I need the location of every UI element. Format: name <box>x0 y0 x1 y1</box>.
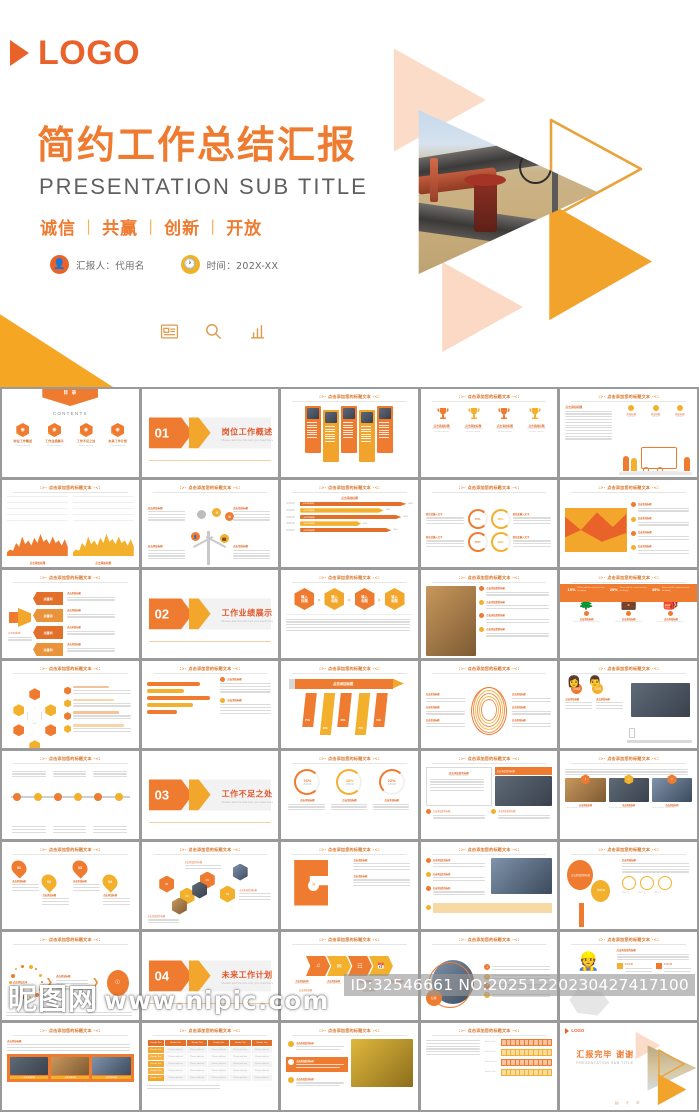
person-icon: 👤 <box>50 255 69 274</box>
thumb-body: 76%添加标题48%添加标题22%添加标题点击添加标题点击添加标题点击添加标题 <box>281 765 418 839</box>
thumb-body: ♫✉☷📅点击添加标题Please add content点击添加标题Please… <box>281 946 418 1020</box>
thumb-title: :>- 点击添加您的标题文本 -<: <box>421 842 558 856</box>
contents-word: CONTENTS <box>2 411 139 416</box>
thumb-title: :>- 点击添加您的标题文本 -<: <box>281 1023 418 1037</box>
thumb-chevronSteps[interactable]: :>- 点击添加您的标题文本 -<:♫✉☷📅点击添加标题Please add c… <box>281 932 418 1020</box>
thumb-drops4[interactable]: :>- 点击添加您的标题文本 -<:01点击添加标题02点击添加标题03点击添加… <box>2 842 139 930</box>
thumb-donuts4[interactable]: :>- 点击添加您的标题文本 -<:请在此输入文字75%90%请在此输入文字请在… <box>421 480 558 568</box>
thumb-photos3[interactable]: :>- 点击添加您的标题文本 -<:1点击添加标题Please add your… <box>560 751 697 839</box>
thumb-title: :>- 点击添加您的标题文本 -<: <box>421 932 558 946</box>
thumb-table[interactable]: :>- 点击添加您的标题文本 -<:Header TextHeader Text… <box>142 1023 279 1111</box>
contents-item-icon: ◉ <box>16 423 29 437</box>
thumb-title: :>- 点击添加您的标题文本 -<: <box>421 751 558 765</box>
thumb-title: :>- 点击添加您的标题文本 -<: <box>560 480 697 494</box>
slogan-separator: | <box>148 217 154 235</box>
thumb-body: 点击添加标题75%60%85%70%54% <box>281 675 418 749</box>
slide-thumbnail-grid: 目 录CONTENTS◉岗位工作概述Please add text◉工作业绩展示… <box>0 387 699 1024</box>
thumb-funnel[interactable]: :>- 点击添加您的标题文本 -<:关键词点击添加标题关键词点击添加标题关键词点… <box>2 570 139 658</box>
thumb-title: :>- 点击添加您的标题文本 -<: <box>142 661 279 675</box>
thumb-cart[interactable]: :>- 点击添加您的标题文本 -<:点击添加标题添加标题text here添加标… <box>560 389 697 477</box>
contents-banner: 目 录 <box>42 389 98 406</box>
thumb-bigArrow[interactable]: :>- 点击添加您的标题文本 -<:⚛点击添加标题点击添加标题 <box>281 842 418 930</box>
contents-item-icon: ◉ <box>48 423 61 437</box>
thumb-body: Header TextHeader TextHeader TextHeader … <box>142 1037 279 1111</box>
thumb-vertCards[interactable]: :>- 点击添加您的标题文本 -<: <box>281 389 418 477</box>
section-subtitle: Please add the title text you need here <box>222 800 276 804</box>
logo-text: LOGO <box>38 36 140 70</box>
thumb-body: 点击添加文本❯点击添加标题❯☉ <box>2 946 139 1020</box>
thumb-bigTree[interactable]: :>- 点击添加您的标题文本 -<:点击添加您的标题添加标题点击添加标题添加文本… <box>560 842 697 930</box>
thumb-body: 点击添加标题Please add text here for your cont… <box>421 403 558 477</box>
presenter-label: 汇报人：代用名 <box>76 258 145 272</box>
slogan-word-3: 创新 <box>164 214 200 239</box>
thumb-photoBullets[interactable]: :>- 点击添加您的标题文本 -<:点击添加您的标题点击添加您的标题点击添加您的… <box>421 570 558 658</box>
thumb-title: :>- 点击添加您的标题文本 -<: <box>281 389 418 403</box>
thumb-title: :>- 点击添加您的标题文本 -<: <box>281 932 418 946</box>
thumb-title: :>- 点击添加您的标题文本 -<: <box>2 661 139 675</box>
thumb-body: 点击添加标题点击添加标题点击添加标题点击添加标题 <box>2 1037 139 1111</box>
thumb-robotPhoto[interactable]: :>- 点击添加您的标题文本 -<:点击添加您的标题点击添加您的标题点击添加您的… <box>281 1023 418 1111</box>
thumb-body: 请在此输入文字75%90%请在此输入文字请在此输入文字50%60%请在此输入文字 <box>421 494 558 568</box>
thumb-title: :>- 点击添加您的标题文本 -<: <box>281 480 418 494</box>
thumb-mountains[interactable]: :>- 点击添加您的标题文本 -<:点击添加标题点击添加标题 <box>2 480 139 568</box>
thumb-title: :>- 点击添加您的标题文本 -<: <box>281 661 418 675</box>
contents-item[interactable]: ◉工作不足之处Please add text <box>76 423 96 448</box>
thumb-hbars[interactable]: :>- 点击添加您的标题文本 -<:点击添加标题点击添加标题 <box>142 661 279 749</box>
thumb-title: :>- 点击添加您的标题文本 -<: <box>560 842 697 856</box>
thumb-title: :>- 点击添加您的标题文本 -<: <box>560 751 697 765</box>
document-icon[interactable] <box>160 322 179 341</box>
contents-item[interactable]: ◉工作业绩展示Please add text <box>44 423 64 448</box>
thumb-section-04[interactable]: 04未来工作计划Please add the title text you ne… <box>142 932 279 1020</box>
thumb-body: ⚛点击添加标题点击添加标题 <box>281 856 418 930</box>
thumb-body: 15%Please add the content text here for … <box>560 584 697 658</box>
slogan-word-4: 开放 <box>226 214 262 239</box>
thumb-hexNetwork[interactable]: :>- 点击添加您的标题文本 -<: <box>2 661 139 749</box>
bar-chart-icon[interactable] <box>248 322 267 341</box>
contents-item-icon: ◉ <box>80 423 93 437</box>
thumb-spiral[interactable]: :>- 点击添加您的标题文本 -<:点击添加标题点击添加标题点击添加标题点击添加… <box>421 661 558 749</box>
slogan-separator: | <box>86 217 92 235</box>
thumb-body: Feature TextFeature TextFeature TextFeat… <box>421 1037 558 1111</box>
contents-item-icon: ◉ <box>111 423 124 437</box>
contents-item-sub: Please add text <box>111 445 125 448</box>
thumb-timeline[interactable]: :>- 点击添加您的标题文本 -<: <box>2 751 139 839</box>
thumb-body: 01点击添加标题02点击添加标题03点击添加标题04点击添加标题 <box>2 856 139 930</box>
slogan-word-2: 共赢 <box>102 214 138 239</box>
thumb-contents[interactable]: 目 录CONTENTS◉岗位工作概述Please add text◉工作业绩展示… <box>2 389 139 477</box>
contents-item[interactable]: ◉岗位工作概述Please add text <box>13 423 33 448</box>
thumb-body: 点击添加标题点击添加标题点击添加标题点击添加标题 <box>560 494 697 568</box>
thumb-body: 点击添加标题添加标题点击添加标题95%添加标题点击添加标题70%添加标题点击添加… <box>281 494 418 568</box>
page-title: 简约工作总结汇报 <box>37 124 368 167</box>
corner-wedge-decoration <box>0 297 116 387</box>
thumb-title: :>- 点击添加您的标题文本 -<: <box>2 842 139 856</box>
thumb-body: 1点击添加标题Please add your content here2点击添加… <box>560 765 697 839</box>
search-icon[interactable] <box>204 322 223 341</box>
thumb-body: 👩543👨920点击添加标题点击添加标题 <box>560 675 697 749</box>
hero-slide: LOGO 简约工作总结汇报 PRESENTATION SUB TITLE 诚信 … <box>0 0 699 387</box>
thumb-body: ⚒⚙👤💼点击添加标题点击添加标题点击添加标题点击添加标题 <box>142 494 279 568</box>
thumb-people[interactable]: :>- 点击添加您的标题文本 -<:👩543👨920点击添加标题点击添加标题 <box>560 661 697 749</box>
contents-item[interactable]: ◉未来工作计划Please add text <box>108 423 128 448</box>
thumb-body: 点击添加标题点击添加标题 <box>2 494 139 568</box>
thumb-title: :>- 点击添加您的标题文本 -<: <box>560 661 697 675</box>
thumb-body: 关键词点击添加标题关键词点击添加标题关键词点击添加标题关键词点击添加标题点击添加… <box>2 584 139 658</box>
thumb-title: :>- 点击添加您的标题文本 -<: <box>2 932 139 946</box>
thumb-title: :>- 点击添加您的标题文本 -<: <box>281 751 418 765</box>
pale-triangle-decoration <box>437 258 523 356</box>
thumb-title: :>- 点击添加您的标题文本 -<: <box>560 389 697 403</box>
date-label: 时间：202X-XX <box>207 258 279 272</box>
thumb-circlePhoto[interactable]: :>- 点击添加您的标题文本 -<:标题1234 <box>421 932 558 1020</box>
hero-icon-row <box>160 322 267 341</box>
thumb-title: :>- 点击添加您的标题文本 -<: <box>421 389 558 403</box>
contents-items: ◉岗位工作概述Please add text◉工作业绩展示Please add … <box>2 423 139 448</box>
thumb-body: 点击添加您的标题点击添加您的标题点击添加您的标题 <box>421 856 558 930</box>
thumb-body: 输入标题▸输入标题▸输入标题▸输入标题 <box>281 584 418 658</box>
contents-item-label: 岗位工作概述 <box>14 439 33 443</box>
thumb-title: :>- 点击添加您的标题文本 -<: <box>421 1023 558 1037</box>
thumb-framePhoto[interactable]: :>- 点击添加您的标题文本 -<:点击添加您的标题Please add the… <box>421 751 558 839</box>
contents-item-sub: Please add text <box>16 445 30 448</box>
thumb-title: :>- 点击添加您的标题文本 -<: <box>142 842 279 856</box>
thumb-body: 点击添加标题点击添加标题点击添加标题点击添加标题点击添加标题点击添加标题 <box>421 675 558 749</box>
thank-you-title: 汇报完毕 谢谢 <box>576 1049 634 1060</box>
thumb-hexSteps[interactable]: :>- 点击添加您的标题文本 -<:输入标题▸输入标题▸输入标题▸输入标题 <box>281 570 418 658</box>
slogan-row: 诚信 | 共赢 | 创新 | 开放 <box>40 214 368 239</box>
clock-icon: 🕐 <box>181 255 200 274</box>
section-title: 工作不足之处 <box>222 788 273 799</box>
thumb-dotsChevron[interactable]: :>- 点击添加您的标题文本 -<:点击添加文本❯点击添加标题❯☉ <box>2 932 139 1020</box>
thumb-tree[interactable]: :>- 点击添加您的标题文本 -<:⚒⚙👤💼点击添加标题点击添加标题点击添加标题… <box>142 480 279 568</box>
thumb-title: :>- 点击添加您的标题文本 -<: <box>2 480 139 494</box>
thumb-thank-you[interactable]: LOGO汇报完毕 谢谢PRESENTATION SUB TITLE▤ ⚲ ☰ <box>560 1023 697 1111</box>
thumb-title: :>- 点击添加您的标题文本 -<: <box>2 1023 139 1037</box>
thumb-section-02[interactable]: 02工作业绩展示Please add the title text you ne… <box>142 570 279 658</box>
thumb-title: :>- 点击添加您的标题文本 -<: <box>560 570 697 584</box>
thumb-trophies[interactable]: :>- 点击添加您的标题文本 -<:点击添加标题Please add text … <box>421 389 558 477</box>
thumb-pencil[interactable]: :>- 点击添加您的标题文本 -<:点击添加标题75%60%85%70%54% <box>281 661 418 749</box>
thumb-rings3[interactable]: :>- 点击添加您的标题文本 -<:76%添加标题48%添加标题22%添加标题点… <box>281 751 418 839</box>
thumb-body: 点击添加标题添加标题text here添加标题text here添加标题text… <box>560 403 697 477</box>
thumb-title: :>- 点击添加您的标题文本 -<: <box>281 570 418 584</box>
contents-item-label: 未来工作计划 <box>108 439 127 443</box>
thumb-hexPhotos[interactable]: :>- 点击添加您的标题文本 -<:01020304点击添加您的标题点击添加您的… <box>142 842 279 930</box>
thumb-section-03[interactable]: 03工作不足之处Please add the title text you ne… <box>142 751 279 839</box>
presenter-meta: 👤 汇报人：代用名 <box>50 255 145 274</box>
thumb-body: 点击添加标题点击添加标题 <box>142 675 279 749</box>
thumb-body: 点击添加您的标题点击添加您的标题点击添加您的标题点击添加您的标题 <box>421 584 558 658</box>
thumb-body: 标题1234 <box>421 946 558 1020</box>
thumb-arrowBars[interactable]: :>- 点击添加您的标题文本 -<:点击添加标题添加标题点击添加标题95%添加标… <box>281 480 418 568</box>
thumb-title: :>- 点击添加您的标题文本 -<: <box>421 570 558 584</box>
thumb-cityPhoto[interactable]: :>- 点击添加您的标题文本 -<:点击添加您的标题点击添加您的标题点击添加您的… <box>421 842 558 930</box>
meta-row: 👤 汇报人：代用名 🕐 时间：202X-XX <box>50 255 278 274</box>
thumb-title: :>- 点击添加您的标题文本 -<: <box>2 751 139 765</box>
thumb-body <box>281 403 418 477</box>
play-triangle-icon <box>10 40 29 66</box>
thumb-section-01[interactable]: 01岗位工作概述Please add the title text you ne… <box>142 389 279 477</box>
thank-you-subtitle: PRESENTATION SUB TITLE <box>576 1061 633 1065</box>
thumb-workerMap[interactable]: :>- 点击添加您的标题文本 -<:👷点击添加您的标题添加标题添加标题 <box>560 932 697 1020</box>
thumb-title: :>- 点击添加您的标题文本 -<: <box>281 842 418 856</box>
thumb-body: 01020304点击添加您的标题点击添加您的标题点击添加您的标题 <box>142 856 279 930</box>
section-title: 未来工作计划 <box>222 969 273 980</box>
contents-item-label: 工作业绩展示 <box>45 439 64 443</box>
contents-item-label: 工作不足之处 <box>77 439 96 443</box>
section-title: 工作业绩展示 <box>222 607 273 618</box>
thumb-title: :>- 点击添加您的标题文本 -<: <box>421 661 558 675</box>
thumb-title: :>- 点击添加您的标题文本 -<: <box>560 932 697 946</box>
thumb-title: :>- 点击添加您的标题文本 -<: <box>142 480 279 494</box>
thumb-body: 点击添加您的标题添加标题点击添加标题添加文本添加文本添加文本 <box>560 856 697 930</box>
thumb-title: :>- 点击添加您的标题文本 -<: <box>421 480 558 494</box>
slogan-separator: | <box>210 217 216 235</box>
section-subtitle: Please add the title text you need here <box>222 438 276 442</box>
thumb-bannerPhotos[interactable]: :>- 点击添加您的标题文本 -<:点击添加标题点击添加标题点击添加标题点击添加… <box>2 1023 139 1111</box>
thumb-barsList[interactable]: :>- 点击添加您的标题文本 -<:Feature TextFeature Te… <box>421 1023 558 1111</box>
slogan-word-1: 诚信 <box>40 214 76 239</box>
contents-item-sub: Please add text <box>79 445 93 448</box>
thumb-body: 点击添加您的标题Please add the content点击添加您的标题点击… <box>421 765 558 839</box>
section-title: 岗位工作概述 <box>222 426 273 437</box>
thumb-title: :>- 点击添加您的标题文本 -<: <box>2 570 139 584</box>
logo: LOGO <box>565 1028 584 1034</box>
section-subtitle: Please add the title text you need here <box>222 981 276 985</box>
thank-you-icons: ▤ ⚲ ☰ <box>615 1100 643 1105</box>
title-block: 简约工作总结汇报 PRESENTATION SUB TITLE 诚信 | 共赢 … <box>37 124 368 239</box>
thumb-stats3[interactable]: :>- 点击添加您的标题文本 -<:15%Please add the cont… <box>560 570 697 658</box>
thumb-title: :>- 点击添加您的标题文本 -<: <box>142 1023 279 1037</box>
thumb-body: 👷点击添加您的标题添加标题添加标题 <box>560 946 697 1020</box>
date-meta: 🕐 时间：202X-XX <box>181 255 279 274</box>
thumb-body <box>2 765 139 839</box>
contents-item-sub: Please add text <box>47 445 61 448</box>
thumb-areaList[interactable]: :>- 点击添加您的标题文本 -<:点击添加标题点击添加标题点击添加标题点击添加… <box>560 480 697 568</box>
thumb-body <box>2 675 139 749</box>
page-subtitle: PRESENTATION SUB TITLE <box>39 176 368 198</box>
section-subtitle: Please add the title text you need here <box>222 619 276 623</box>
logo[interactable]: LOGO <box>10 36 140 70</box>
thumb-body: 点击添加您的标题点击添加您的标题点击添加您的标题 <box>281 1037 418 1111</box>
